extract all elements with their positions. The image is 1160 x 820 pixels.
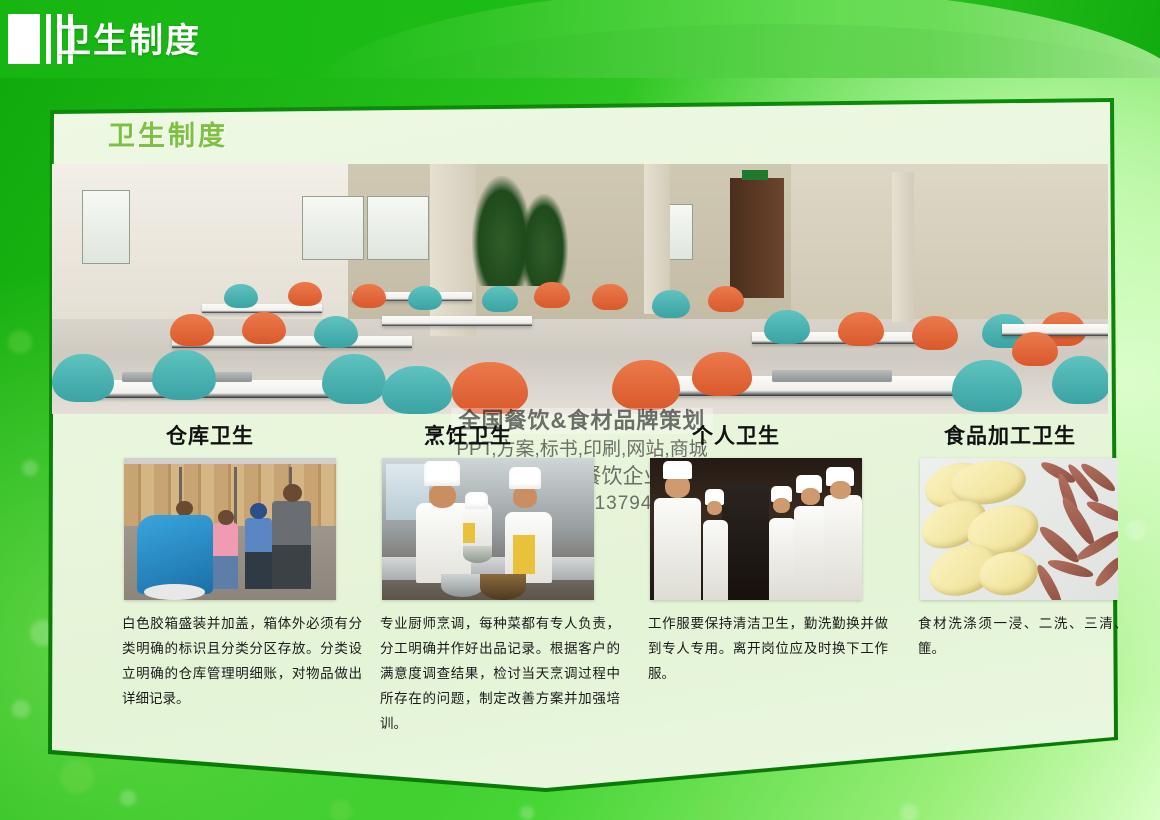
column-body: 白色胶箱盛装并加盖，箱体外必须有分类明确的标识且分类分区存放。分类设立明确的仓库… [122, 612, 362, 712]
column-warehouse-hygiene: 仓库卫生 白色胶箱盛装并 [118, 422, 366, 712]
column-body: 食材洗涤须一浸、二洗、三清、四进篚。 [918, 612, 1118, 662]
cafeteria-hero-image [52, 164, 1108, 414]
section-title: 卫生制度 [108, 114, 228, 153]
column-body: 工作服要保持清洁卫生，勤洗勤换并做到专人专用。离开岗位应及时换下工作服。 [648, 612, 888, 687]
column-heading: 个人卫生 [644, 422, 892, 452]
columns-row: 仓库卫生 白色胶箱盛装并 [46, 422, 1118, 722]
poster-stage: 卫生制度 卫生制度 [0, 0, 1160, 820]
chefs-cooking-kitchen-photo [382, 458, 594, 600]
column-heading: 仓库卫生 [118, 422, 366, 452]
column-cooking-hygiene: 烹饪卫生 [376, 422, 624, 737]
chefs-lineup-uniform-photo [650, 458, 862, 600]
header-bar: 卫生制度 [0, 0, 1160, 78]
column-body: 专业厨师烹调，每种菜都有专人负责，分工明确并作好出品记录。根据客户的满意度调查结… [380, 612, 620, 737]
header-swoosh-light [300, 0, 1160, 78]
header-title: 卫生制度 [57, 13, 201, 62]
peeled-potatoes-photo [920, 458, 1118, 600]
card-content: 卫生制度 [46, 92, 1118, 792]
column-heading: 食品加工卫生 [914, 422, 1118, 452]
warehouse-floor-scrubber-photo [124, 458, 336, 600]
column-heading: 烹饪卫生 [376, 422, 624, 452]
column-food-processing-hygiene: 食品加工卫生 [914, 422, 1118, 662]
content-card: 卫生制度 [46, 92, 1118, 792]
column-personal-hygiene: 个人卫生 [644, 422, 892, 687]
